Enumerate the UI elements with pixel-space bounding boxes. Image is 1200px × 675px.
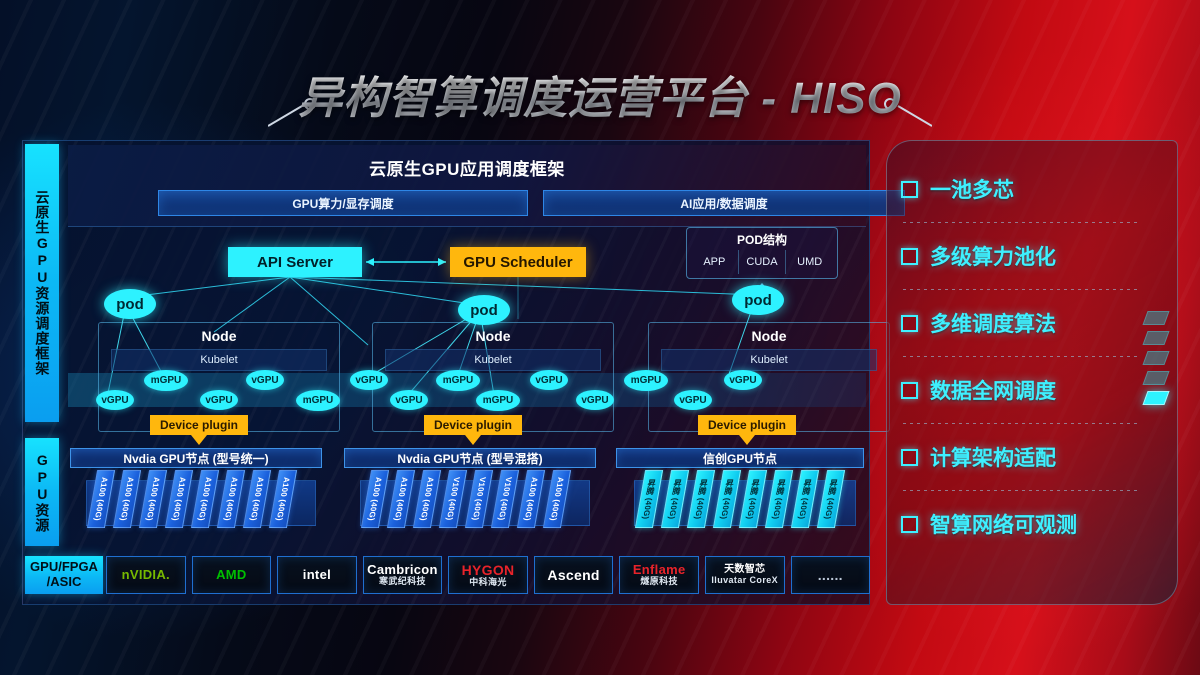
kubelet-box: Kubelet: [661, 349, 877, 371]
feature-item-6[interactable]: 智算网络可观测: [901, 502, 1077, 546]
pod-structure-cells: APP CUDA UMD: [691, 250, 833, 274]
feature-list: 一池多芯多级算力池化多维调度算法数据全网调度计算架构适配智算网络可观测: [901, 167, 1141, 584]
pod-cell-cuda: CUDA: [739, 250, 787, 274]
feature-item-3[interactable]: 多维调度算法: [901, 301, 1056, 345]
device-plugin-1[interactable]: Device plugin: [150, 415, 248, 435]
kubelet-box: Kubelet: [111, 349, 327, 371]
vendor-logo-intel[interactable]: intel: [277, 556, 357, 594]
vendors-layer: nVIDIA.AMDintelCambricon寒武纪科技HYGON中科海光As…: [106, 556, 870, 594]
feature-item-1[interactable]: 一池多芯: [901, 167, 1014, 211]
pod-node-2[interactable]: pod: [458, 295, 510, 325]
gpu-pill-vgpu-13[interactable]: vGPU: [674, 390, 712, 410]
vendor-name-more: ......: [818, 568, 843, 583]
gpu-scheduler-node[interactable]: GPU Scheduler: [450, 247, 586, 277]
vendor-name-amd: AMD: [216, 568, 247, 582]
pod-cell-app: APP: [691, 250, 739, 274]
pod-structure-box: POD结构 APP CUDA UMD: [686, 227, 838, 279]
feature-separator-2: [903, 289, 1141, 290]
gpu-node-label-3[interactable]: 信创GPU节点: [616, 448, 864, 468]
gpu-pill-vgpu-1[interactable]: vGPU: [96, 390, 134, 410]
vendor-logo-iluvatar[interactable]: 天数智芯Iluvatar CoreX: [705, 556, 785, 594]
device-plugin-arrow-3-icon: [739, 435, 755, 445]
decor-stripe-3: [1142, 351, 1169, 365]
scheduling-canvas: API Server GPU Scheduler POD结构 APP CUDA …: [68, 227, 866, 438]
feature-separator-1: [903, 222, 1141, 223]
vendor-logo-more[interactable]: ......: [791, 556, 871, 594]
decor-stripe-2: [1142, 331, 1169, 345]
node-title: Node: [99, 328, 339, 344]
vendor-logo-amd[interactable]: AMD: [192, 556, 272, 594]
vendor-logo-enflame[interactable]: Enflame燧原科技: [619, 556, 699, 594]
framework-bar-gpu-compute[interactable]: GPU算力/显存调度: [158, 190, 528, 216]
framework-bar-ai-app[interactable]: AI应用/数据调度: [543, 190, 905, 216]
gpu-pill-mgpu-2[interactable]: mGPU: [144, 370, 188, 391]
vendor-name-ascend: Ascend: [547, 568, 599, 583]
framework-header: 云原生GPU应用调度框架 GPU算力/显存调度 AI应用/数据调度: [68, 145, 866, 227]
sidebar-tab-cloud-native-gpu-framework[interactable]: 云原生GPU资源调度框架: [25, 144, 59, 422]
vendor-logo-hygon[interactable]: HYGON中科海光: [448, 556, 528, 594]
gpu-pill-vgpu-4[interactable]: vGPU: [246, 370, 284, 390]
gpu-pill-vgpu-3[interactable]: vGPU: [200, 390, 238, 410]
kubelet-box: Kubelet: [385, 349, 601, 371]
gpu-pill-mgpu-9[interactable]: mGPU: [476, 390, 520, 411]
gpu-node-label-1[interactable]: Nvdia GPU节点 (型号统一): [70, 448, 322, 468]
feature-label: 智算网络可观测: [930, 509, 1077, 539]
device-plugin-arrow-2-icon: [465, 435, 481, 445]
vendor-name-nvidia: nVIDIA.: [122, 568, 170, 582]
device-plugin-3[interactable]: Device plugin: [698, 415, 796, 435]
pod-structure-title: POD结构: [687, 231, 837, 248]
vendor-name-iluvatar: 天数智芯: [724, 565, 765, 576]
gpu-pill-vgpu-7[interactable]: vGPU: [390, 390, 428, 410]
pod-cell-umd: UMD: [786, 250, 833, 274]
vendor-subtitle-iluvatar: Iluvatar CoreX: [711, 576, 778, 585]
feature-list-panel: 一池多芯多级算力池化多维调度算法数据全网调度计算架构适配智算网络可观测: [886, 140, 1178, 605]
gpu-pill-vgpu-11[interactable]: vGPU: [576, 390, 614, 410]
feature-separator-4: [903, 423, 1141, 424]
feature-item-2[interactable]: 多级算力池化: [901, 234, 1056, 278]
feature-label: 一池多芯: [930, 174, 1014, 204]
gpu-pill-mgpu-5[interactable]: mGPU: [296, 390, 340, 411]
sidebar-tab-gpu-resource[interactable]: GPU资源: [25, 438, 59, 546]
gpu-pill-vgpu-6[interactable]: vGPU: [350, 370, 388, 390]
pod-node-3[interactable]: pod: [732, 285, 784, 315]
vendor-logo-cambricon[interactable]: Cambricon寒武纪科技: [363, 556, 443, 594]
decor-stripe-4: [1142, 371, 1169, 385]
checkbox-icon[interactable]: [901, 449, 918, 466]
node-title: Node: [649, 328, 889, 344]
feature-label: 多级算力池化: [930, 241, 1056, 271]
checkbox-icon[interactable]: [901, 315, 918, 332]
header: 异构智算调度运营平台 - HISO: [0, 58, 1200, 128]
page-title: 异构智算调度运营平台 - HISO: [0, 62, 1200, 126]
checkbox-icon[interactable]: [901, 181, 918, 198]
feature-label: 数据全网调度: [930, 375, 1056, 405]
feature-label: 多维调度算法: [930, 308, 1056, 338]
vendor-name-hygon: HYGON: [462, 563, 515, 578]
vendor-subtitle-hygon: 中科海光: [469, 578, 507, 587]
vendor-logo-row: nVIDIA.AMDintelCambricon寒武纪科技HYGON中科海光As…: [22, 556, 870, 594]
decor-stripe-5: [1142, 391, 1169, 405]
feature-item-4[interactable]: 数据全网调度: [901, 368, 1056, 412]
checkbox-icon[interactable]: [901, 382, 918, 399]
api-server-node[interactable]: API Server: [228, 247, 362, 277]
feature-separator-3: [903, 356, 1141, 357]
gpu-resource-area: Nvdia GPU节点 (型号统一) Nvdia GPU节点 (型号混搭) 信创…: [68, 442, 866, 550]
feature-separator-5: [903, 490, 1141, 491]
vendor-logo-nvidia[interactable]: nVIDIA.: [106, 556, 186, 594]
vendor-subtitle-cambricon: 寒武纪科技: [379, 577, 426, 586]
vendor-subtitle-enflame: 燧原科技: [640, 577, 678, 586]
device-plugin-2[interactable]: Device plugin: [424, 415, 522, 435]
node-title: Node: [373, 328, 613, 344]
gpu-pill-mgpu-8[interactable]: mGPU: [436, 370, 480, 391]
pod-node-1[interactable]: pod: [104, 289, 156, 319]
vendor-name-intel: intel: [303, 568, 331, 582]
vendor-logo-ascend[interactable]: Ascend: [534, 556, 614, 594]
gpu-pill-vgpu-10[interactable]: vGPU: [530, 370, 568, 390]
checkbox-icon[interactable]: [901, 248, 918, 265]
gpu-node-label-2[interactable]: Nvdia GPU节点 (型号混搭): [344, 448, 596, 468]
feature-item-5[interactable]: 计算架构适配: [901, 435, 1056, 479]
feature-label: 计算架构适配: [930, 442, 1056, 472]
gpu-pill-mgpu-12[interactable]: mGPU: [624, 370, 668, 391]
checkbox-icon[interactable]: [901, 516, 918, 533]
device-plugin-arrow-1-icon: [191, 435, 207, 445]
decor-stripe-1: [1142, 311, 1169, 325]
framework-title: 云原生GPU应用调度框架: [68, 155, 866, 180]
gpu-pill-vgpu-14[interactable]: vGPU: [724, 370, 762, 390]
